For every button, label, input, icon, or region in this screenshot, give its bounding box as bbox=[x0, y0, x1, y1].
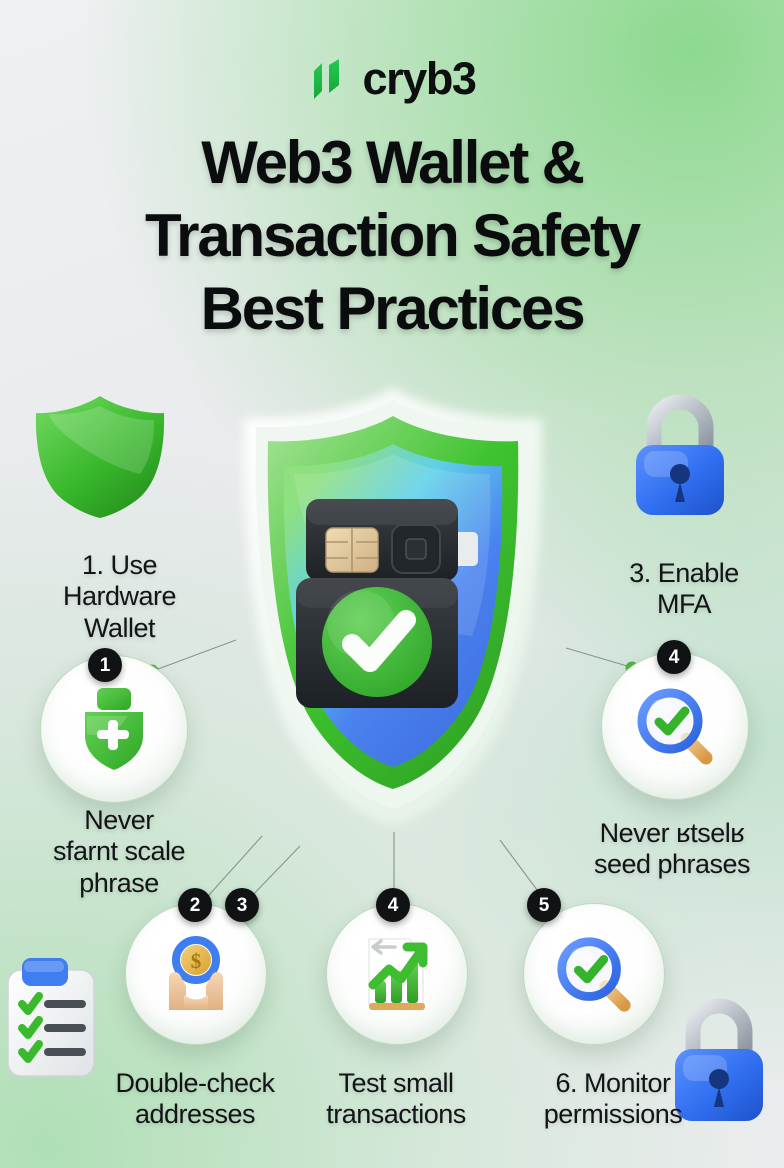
node-6-caption-below-line-2: seed phrases bbox=[560, 849, 784, 880]
page-title-line-1: Web3 Wallet & bbox=[40, 126, 744, 199]
magnifier-over-check-circle-icon bbox=[632, 683, 718, 769]
green-shield-3d-icon bbox=[30, 388, 170, 520]
node-5-caption-below: 6. Monitor permissions bbox=[500, 1068, 726, 1131]
clipboard-checklist-3d-icon bbox=[0, 950, 108, 1082]
node-1-caption-below-line-2: sfarnt scale bbox=[18, 836, 220, 867]
page-title-line-2: Transaction Safety bbox=[40, 199, 744, 272]
node-4-caption-below: Test small transactions bbox=[290, 1068, 502, 1131]
rising-bar-chart-arrow-icon bbox=[355, 933, 439, 1015]
node-1-caption-above-line-1: 1. Use bbox=[32, 550, 207, 581]
node-6-caption-above: 3. Enable MFA bbox=[598, 558, 770, 621]
magnifier-over-check-circle-icon bbox=[552, 932, 636, 1016]
brand-name: cryb3 bbox=[362, 56, 475, 101]
node-5-circle-monitor-permissions[interactable] bbox=[523, 903, 665, 1045]
page-title-line-3: Best Practices bbox=[40, 272, 744, 345]
green-shield-usb-key-icon bbox=[75, 686, 153, 772]
node-3-badge: 3 bbox=[225, 888, 259, 922]
node-5-badge: 5 bbox=[527, 888, 561, 922]
node-2-badge: 2 bbox=[178, 888, 212, 922]
node-1-badge: 1 bbox=[88, 648, 122, 682]
node-5-caption-below-line-2: permissions bbox=[500, 1099, 726, 1130]
node-1-caption-below: Never sfarnt scale phrase bbox=[18, 805, 220, 899]
node-6-caption-below: Never ʁtselʁ seed phrases bbox=[560, 818, 784, 881]
infographic-poster: cryb3 Web3 Wallet & Transaction Safety B… bbox=[0, 0, 784, 1168]
double-slash-green-logo-mark-icon bbox=[308, 57, 348, 101]
hero-shield-illustration bbox=[228, 382, 558, 830]
node-4-caption-below-line-1: Test small bbox=[290, 1068, 502, 1099]
node-6-badge: 4 bbox=[657, 640, 691, 674]
node-4-badge: 4 bbox=[376, 888, 410, 922]
node-1-caption-above: 1. Use Hardware Wallet bbox=[32, 550, 207, 644]
node-2-caption-below-line-2: addresses bbox=[80, 1099, 310, 1130]
node-6-caption-below-line-1: Never ʁtselʁ bbox=[560, 818, 784, 849]
node-4-caption-below-line-2: transactions bbox=[290, 1099, 502, 1130]
shield-with-hardware-wallet-and-checkmark-icon bbox=[228, 382, 558, 830]
hands-holding-dollar-coin-icon: $ bbox=[155, 933, 237, 1015]
page-title: Web3 Wallet & Transaction Safety Best Pr… bbox=[40, 126, 744, 346]
node-2-circle-double-check-addresses[interactable]: $ bbox=[125, 903, 267, 1045]
node-6-caption-above-line-2: MFA bbox=[598, 589, 770, 620]
blue-padlock-3d-icon bbox=[620, 390, 740, 520]
node-4-circle-test-small-transactions[interactable] bbox=[326, 903, 468, 1045]
node-2-caption-below: Double-check addresses bbox=[80, 1068, 310, 1131]
node-1-caption-above-line-2: Hardware bbox=[32, 581, 207, 612]
node-1-caption-below-line-1: Never bbox=[18, 805, 220, 836]
brand-header: cryb3 bbox=[0, 56, 784, 101]
svg-text:$: $ bbox=[191, 949, 202, 973]
node-6-circle-enable-mfa[interactable] bbox=[601, 652, 749, 800]
node-6-caption-above-line-1: 3. Enable bbox=[598, 558, 770, 589]
node-5-caption-below-line-1: 6. Monitor bbox=[500, 1068, 726, 1099]
node-1-caption-above-line-3: Wallet bbox=[32, 613, 207, 644]
node-2-caption-below-line-1: Double-check bbox=[80, 1068, 310, 1099]
